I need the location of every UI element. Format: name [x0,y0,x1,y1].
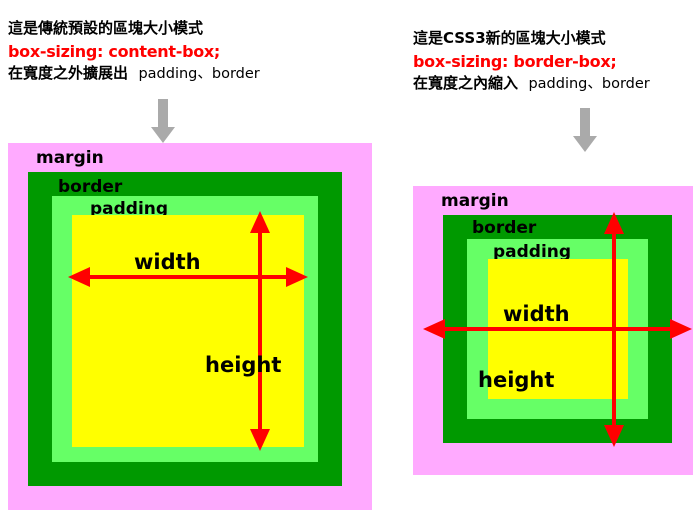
right-height-label: height [478,368,554,392]
left-width-label: width [134,250,201,274]
left-height-label: height [205,353,281,377]
right-margin-label: margin [441,191,509,211]
right-height-arrow [599,208,629,451]
down-arrow-icon [573,108,597,152]
right-caption-code: box-sizing: border-box; [413,50,650,73]
right-caption-line-3-cjk: 在寬度之內縮入 [413,74,518,92]
left-height-arrow [245,207,275,455]
right-width-label: width [503,302,570,326]
left-caption-line-3-latin: padding、border [138,66,259,82]
left-caption-block: 這是傳統預設的區塊大小模式 box-sizing: content-box; 在… [8,18,260,85]
left-margin-label: margin [36,148,104,168]
right-border-label: border [472,218,536,238]
left-caption-line-3-cjk: 在寬度之外擴展出 [8,64,128,82]
right-caption-line-3: 在寬度之內縮入 padding、border [413,73,650,95]
left-caption-line-1: 這是傳統預設的區塊大小模式 [8,18,260,40]
right-caption-block: 這是CSS3新的區塊大小模式 box-sizing: border-box; 在… [413,28,650,95]
left-caption-line-3: 在寬度之外擴展出 padding、border [8,63,260,85]
left-caption-code: box-sizing: content-box; [8,40,260,63]
left-border-label: border [58,177,122,197]
down-arrow-icon [151,99,175,143]
right-caption-line-3-latin: padding、border [528,76,649,92]
right-caption-line-1: 這是CSS3新的區塊大小模式 [413,28,650,50]
